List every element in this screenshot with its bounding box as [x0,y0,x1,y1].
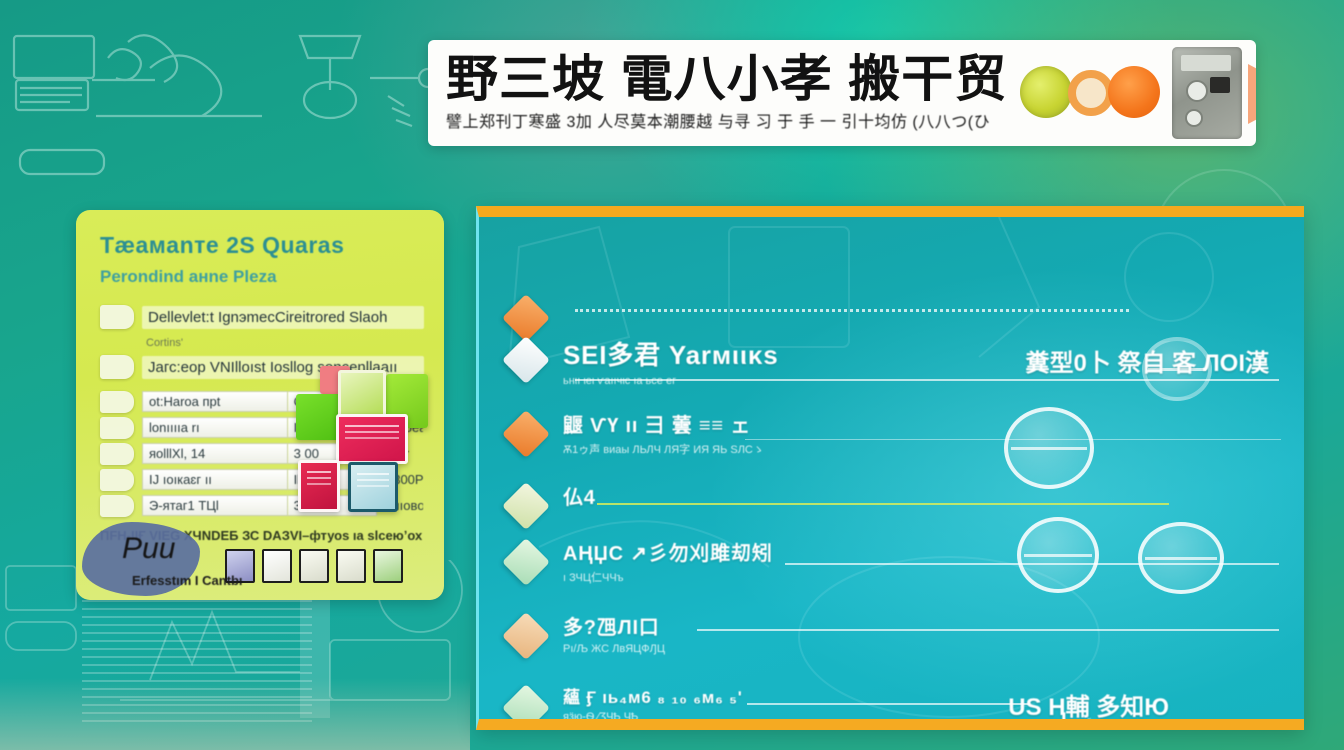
list-item-heading: 鼴 ѴҮ ıı 彐 蕓 ≡≡ ェ [563,409,1289,438]
swatch-icon-2 [262,549,292,583]
divider-solid [747,703,1029,705]
device-display-icon [1210,77,1230,93]
left-card-subtitle: Perondind aнne Pleza [100,267,424,287]
list-item-heading: 仏4 [563,481,1289,510]
device-screen [1181,55,1231,71]
list-item-text-group: 多?乪ЛІ口 Рı/Љ ЖС ЛвЯЦФԒЦ [563,611,1289,655]
script-mark: Puu [122,532,175,566]
divider-solid [785,563,1279,565]
tag-icon [100,469,134,491]
list-item-subtext: Рı/Љ ЖС ЛвЯЦФԒЦ [563,643,1289,655]
tag-icon [100,495,134,517]
right-content-panel: SEI多君 Yarмιικs ьнιı ιеι ѵаııчιс ıа ьсе е… [476,206,1304,730]
crimson-card-sticker-2 [298,460,340,512]
list-item[interactable]: 鼴 ѴҮ ıı 彐 蕓 ≡≡ ェ Ѫ1ゥ声 виаы ЛЬЛЧ ЛЯ字 ИЯ Я… [497,409,1289,481]
table-cell: яolllXl, 14 [142,443,288,464]
swatch-icon-5 [373,549,403,583]
swatch-icon-3 [299,549,329,583]
sticker-lines [357,473,389,475]
mint-diamond-icon [502,538,550,586]
sticker-lines [307,471,331,473]
divider-solid [575,379,1279,381]
list-item-right-label: 糞型0卜 祭自 客 ЛОІ漢 [1025,343,1269,378]
crimson-card-sticker [336,414,408,464]
list-item-text-group: АҢЏС ↗彡勿刈雎刧矧 ı ЗЧЦ仁ЧЧъ [563,537,1289,585]
list-item-right-label: US Ң輔 多知Ю [1008,687,1169,722]
bottom-fade-overlay [0,678,470,750]
banner-text-group: 野三坡 電八小孝 搬干贸 譬上郑刊丁寒盛 3加 人尽莫本潮腰越 与寻 习 于 手… [428,50,1016,136]
list-item-text-group: 鼴 ѴҮ ıı 彐 蕓 ≡≡ ェ Ѫ1ゥ声 виаы ЛЬЛЧ ЛЯ字 ИЯ Я… [563,409,1289,457]
bullet-note: Cortins' [146,337,424,349]
device-button-icon [1185,109,1203,127]
screenshot-root: 野三坡 電八小孝 搬干贸 譬上郑刊丁寒盛 3加 人尽莫本潮腰越 与寻 习 于 手… [0,0,1344,750]
green-sticker-c [338,370,386,418]
line-art-equipment-illustration [0,18,440,178]
list-item-subtext: ı ЗЧЦ仁ЧЧъ [563,569,1289,585]
list-item: Dellevlet:t IgnэmecCireitrored Slaoh [100,303,424,331]
banner-title: 野三坡 電八小孝 搬干贸 [446,54,1039,105]
table-cell: Э-ятаг1 ТЦl [142,495,288,516]
divider-dotted [575,309,1129,312]
tag-icon [100,391,134,413]
divider-solid [697,629,1279,631]
tag-icon [100,417,134,439]
banner-subtitle: 譬上郑刊丁寒盛 3加 人尽莫本潮腰越 与寻 习 于 手 一 引十均仿 (八八つ(… [446,108,1016,132]
sticker-lines [345,425,399,427]
device-dial-icon [1186,80,1208,102]
olive-o-orange-logo [1016,50,1168,136]
peach-diamond-icon [502,612,550,660]
handheld-device-graphic [1172,47,1242,139]
table-cell: ot:Haroa прt [142,391,288,412]
list-item-text-group: 仏4 [563,481,1289,510]
list-item-heading: АҢЏС ↗彡勿刈雎刧矧 [563,537,1289,566]
banner-arrow-accent [1248,64,1256,124]
olive-circle-icon [1020,66,1072,118]
left-card-caption: Erfesstım I Cantbı [132,573,243,588]
list-item-heading: 多?乪ЛІ口 [563,611,1289,640]
divider-lime [597,503,1169,505]
teal-monitor-sticker [348,462,398,512]
pale-diamond-icon [502,482,550,530]
white-diamond-icon [502,336,550,384]
table-cell: lonııııa rı [142,417,288,438]
list-item[interactable]: 多?乪ЛІ口 Рı/Љ ЖС ЛвЯЦФԒЦ [497,611,1289,683]
orange-circle-icon [1108,66,1160,118]
table-cell: IJ ıоıкаɛг ıı [142,469,288,490]
mint-diamond-icon [502,684,550,730]
list-item-subtext: яӟю-Ѳ ∕ƷЧҌ ӋҌ [563,711,1289,723]
list-item-subtext: Ѫ1ゥ声 виаы ЛЬЛЧ ЛЯ字 ИЯ ЯЬ ЅЛСゝ [563,441,1289,457]
left-card-title: Tæaмanтe 2S Quaras [100,232,424,259]
top-banner: 野三坡 電八小孝 搬干贸 譬上郑刊丁寒盛 3加 人尽莫本潮腰越 与寻 习 于 手… [428,40,1256,146]
list-item[interactable]: SEI多君 Yarмιικs ьнιı ιеι ѵаııчιс ıа ьсе е… [497,335,1289,409]
tag-icon [100,355,134,379]
bullet-text: Dellevlet:t IgnэmecCireitrored Slaoh [142,306,424,329]
panel-item-list: SEI多君 Yarмιικs ьнιı ιеι ѵаııчιс ıа ьсе е… [497,293,1289,730]
list-item-right-subtext: Ҥ. Ѯ⁄Э нлрɔѕ-ʌ [1072,719,1139,730]
list-item[interactable]: АҢЏС ↗彡勿刈雎刧矧 ı ЗЧЦ仁ЧЧъ [497,537,1289,611]
orange-diamond-icon [502,410,550,458]
swatch-icon-4 [336,549,366,583]
list-item[interactable] [497,293,1289,335]
list-item[interactable]: 仏4 [497,481,1289,537]
list-item[interactable]: 蘊 Ӻ ıь₄м6 ₈ ₁₀ ₆м₆ ₅ʹ яӟю-Ѳ ∕ƷЧҌ ӋҌ US Ң… [497,683,1289,730]
divider-thin [745,439,1281,440]
tag-icon [100,443,134,465]
tag-icon [100,305,134,329]
